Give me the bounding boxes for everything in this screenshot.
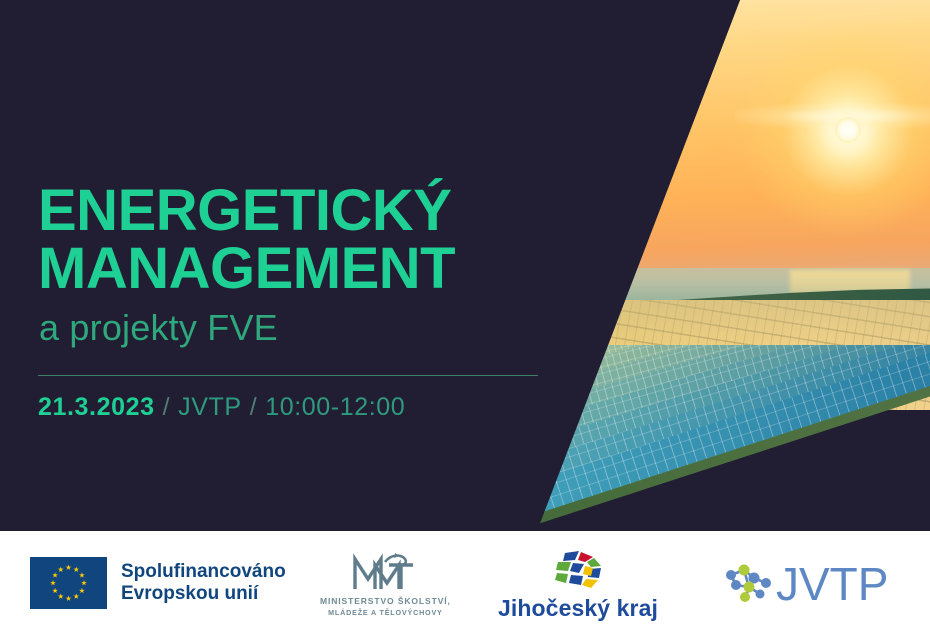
page-title: ENERGETICKÝ MANAGEMENT	[38, 182, 455, 298]
event-poster: ENERGETICKÝ MANAGEMENT a projekty FVE 21…	[0, 0, 930, 630]
hero-section: ENERGETICKÝ MANAGEMENT a projekty FVE 21…	[0, 0, 930, 531]
jihocesky-kraj-emblem-icon	[551, 549, 605, 591]
hero-text-block: ENERGETICKÝ MANAGEMENT a projekty FVE 21…	[38, 0, 558, 531]
msmt-label-line2: MLÁDEŽE A TĚLOVÝCHOVY	[328, 608, 443, 617]
meta-separator-1: /	[155, 393, 179, 421]
msmt-label-line1: MINISTERSTVO ŠKOLSTVÍ,	[320, 596, 451, 606]
sun-disc	[835, 117, 861, 143]
meta-separator-2: /	[242, 393, 266, 421]
msmt-logo: MINISTERSTVO ŠKOLSTVÍ, MLÁDEŽE A TĚLOVÝC…	[320, 551, 451, 617]
eu-stars-icon	[30, 557, 107, 609]
jihocesky-kraj-logo: Jihočeský kraj	[498, 549, 658, 622]
jihocesky-kraj-label: Jihočeský kraj	[498, 595, 658, 622]
event-meta: 21.3.2023/JVTP/10:00-12:00	[38, 392, 405, 422]
footer-logo-bar: Spolufinancováno Evropskou unií MINISTER…	[0, 531, 930, 630]
jvtp-network-icon	[722, 561, 778, 607]
eu-logo-label: Spolufinancováno Evropskou unií	[121, 561, 286, 605]
jvtp-label: JVTP	[776, 561, 888, 607]
divider	[38, 375, 538, 376]
event-date: 21.3.2023	[38, 393, 155, 421]
sun-glow	[738, 20, 930, 240]
msmt-monogram-icon	[335, 551, 435, 593]
event-place: JVTP	[178, 393, 242, 421]
european-union-logo: Spolufinancováno Evropskou unií	[30, 557, 286, 609]
jvtp-logo: JVTP	[722, 561, 888, 607]
page-subtitle: a projekty FVE	[39, 308, 278, 348]
event-time: 10:00-12:00	[265, 393, 405, 421]
eu-flag-icon	[30, 557, 107, 609]
sun-cloud-streak	[735, 103, 930, 129]
